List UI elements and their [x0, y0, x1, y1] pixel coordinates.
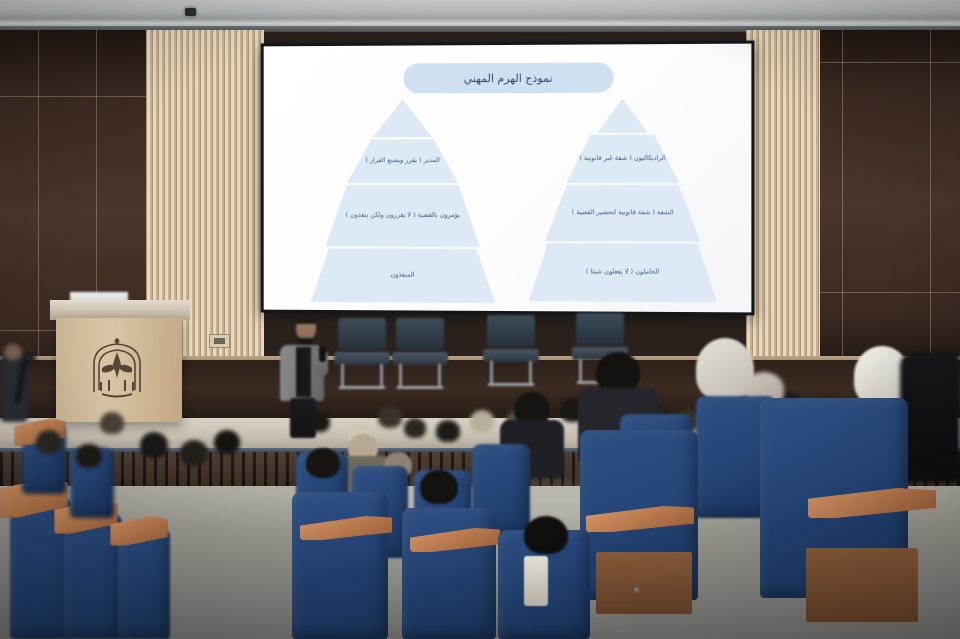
- seat-bolt: [634, 588, 639, 593]
- slide-surface: نموذج الهرم المهني المدير ( يقرر ويصنع ا…: [264, 44, 752, 313]
- pyramid-tier: الراديكاليون ( شفة غير قانونية ): [566, 135, 679, 183]
- seat-armrest-side: [806, 548, 918, 622]
- ceiling-projector-icon: [185, 8, 196, 16]
- institution-emblem-icon: [88, 334, 146, 402]
- pyramid-tier: الخاملون ( لا يفعلون شيئا ): [529, 243, 717, 302]
- pyramid-tier: يؤمرون بالقضية ( لا يقررون ولكن ينفذون ): [326, 185, 481, 247]
- slide-title-pill: نموذج الهرم المهني: [404, 62, 614, 93]
- wall-panel-dark-right: [820, 30, 960, 360]
- auditorium-seat[interactable]: [292, 492, 388, 639]
- microphone-icon: [319, 346, 326, 362]
- wooden-podium: [56, 318, 182, 422]
- auditorium-photo: نموذج الهرم المهني المدير ( يقرر ويصنع ا…: [0, 0, 960, 639]
- podium-top-surface: [50, 300, 190, 320]
- right-pyramid: الراديكاليون ( شفة غير قانونية ) الشفة (…: [529, 98, 717, 306]
- ceiling-beam: [0, 0, 960, 30]
- wall-socket-icon: [209, 334, 230, 348]
- pyramid-tier: المنفذون: [311, 248, 495, 303]
- pyramid-tier: الشفة ( شفة قانونية لتحضير القضية ): [545, 185, 700, 242]
- wall-panel-slats-right: [746, 30, 822, 360]
- pyramid-tier: المدير ( يقرر ويصنع القرار ): [347, 139, 458, 183]
- left-pyramid: المدير ( يقرر ويصنع القرار ) يؤمرون بالق…: [311, 99, 495, 305]
- stage-chair: [334, 318, 390, 390]
- paper-item: [524, 556, 548, 606]
- presenter-head: [296, 316, 316, 340]
- auditorium-seat[interactable]: [402, 508, 496, 639]
- pyramid-tier: [597, 99, 647, 133]
- slide-title-text: نموذج الهرم المهني: [464, 71, 553, 84]
- pyramid-tier: [373, 99, 432, 137]
- seat-armrest-side: [596, 552, 692, 614]
- projection-screen: نموذج الهرم المهني المدير ( يقرر ويصنع ا…: [261, 41, 755, 316]
- stage-chair: [392, 318, 448, 390]
- audience-member: [900, 352, 960, 482]
- stage-chair: [483, 315, 539, 387]
